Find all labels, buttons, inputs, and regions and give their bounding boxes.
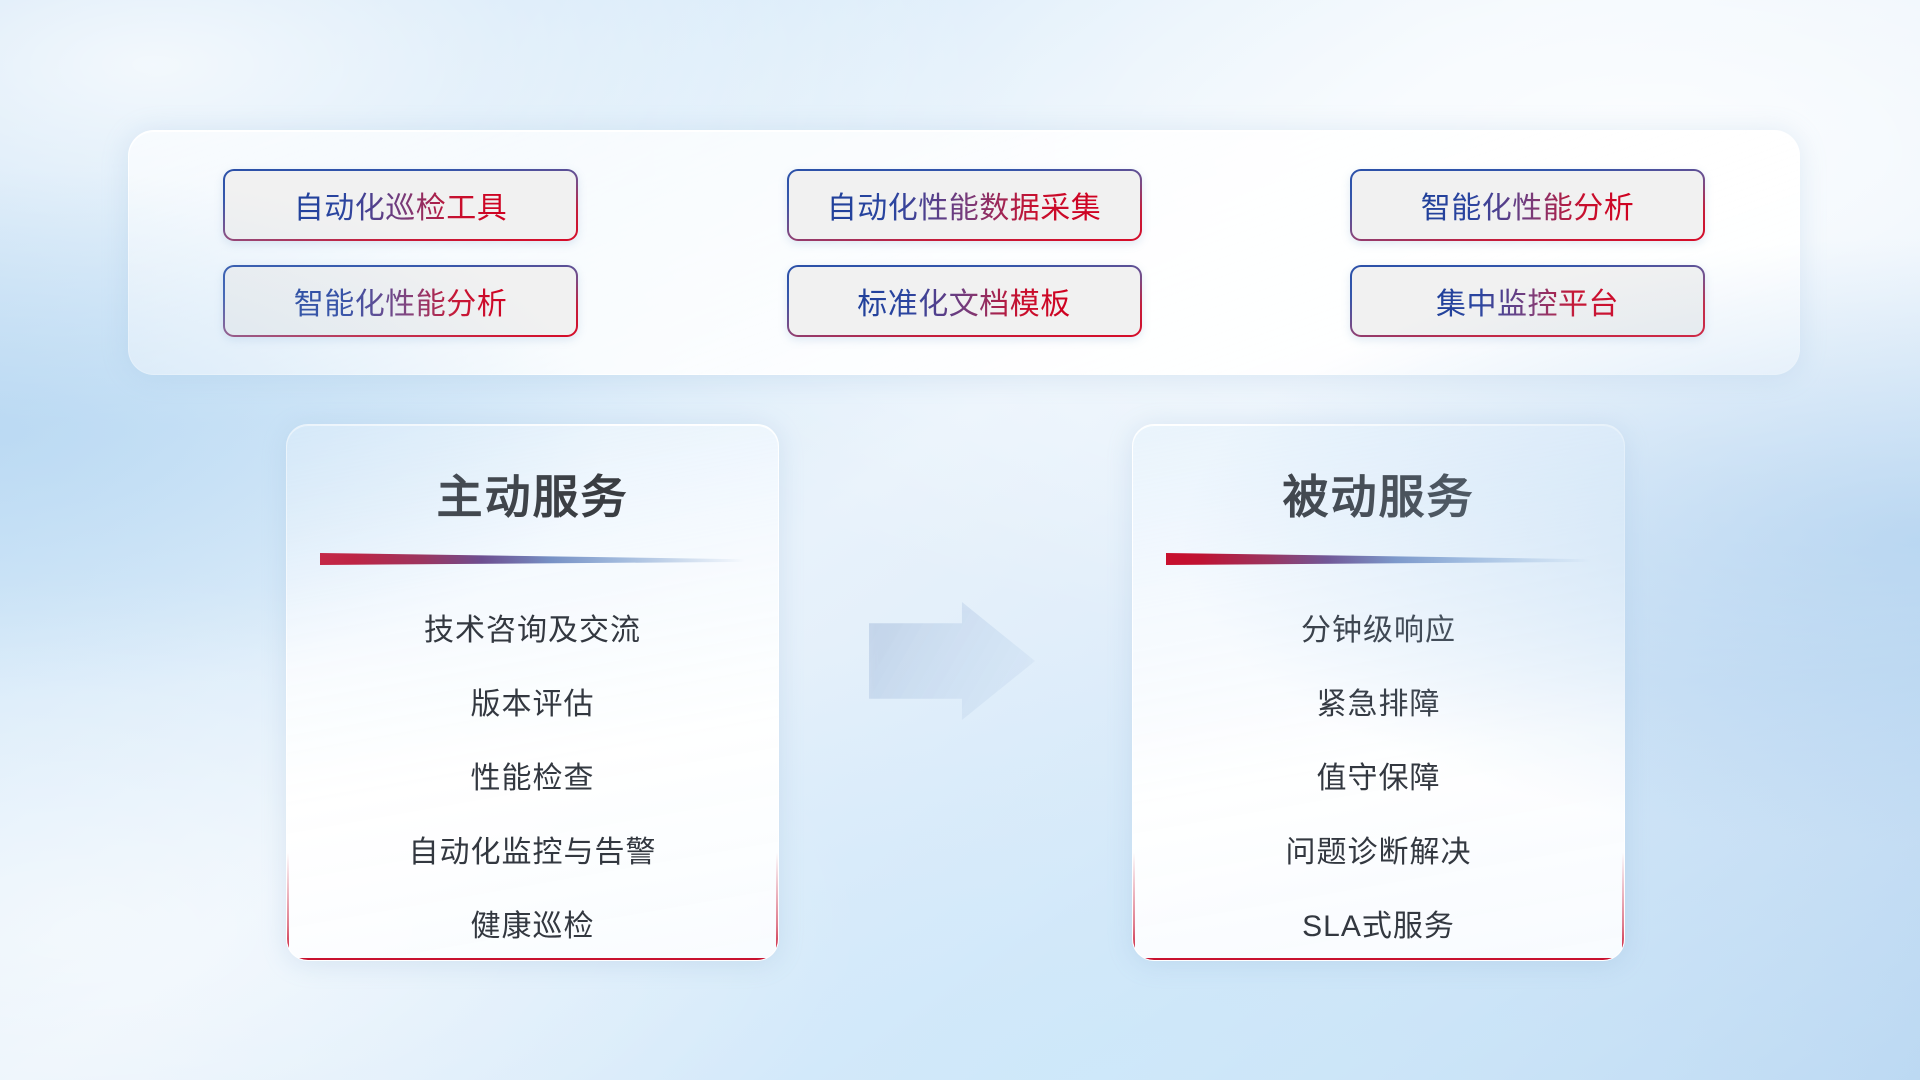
service-list-item: 健康巡检 <box>471 901 595 945</box>
capability-pill-label: 集中监控平台 <box>1436 279 1619 323</box>
capability-pill-intelligent-perf-analysis[interactable]: 智能化性能分析 <box>1350 169 1705 241</box>
capability-pill-auto-perf-data-collection[interactable]: 自动化性能数据采集 <box>787 169 1142 241</box>
service-card-proactive: 主动服务 技术咨询及交流 版本评估 性能检查 自动化监控与告警 健康巡检 <box>286 424 779 961</box>
capability-panel: 自动化巡检工具 自动化性能数据采集 智能化性能分析 智能化性能分析 <box>128 130 1800 375</box>
capability-pill-label: 标准化文档模板 <box>857 279 1071 323</box>
service-list-item: 技术咨询及交流 <box>424 605 641 649</box>
service-item-list: 技术咨询及交流 版本评估 性能检查 自动化监控与告警 健康巡检 <box>287 605 778 945</box>
service-list-item: 值守保障 <box>1317 753 1441 797</box>
pill-surface: 智能化性能分析 <box>1352 171 1703 239</box>
service-card-title: 被动服务 <box>1133 461 1624 527</box>
capability-pill-auto-inspection-tool[interactable]: 自动化巡检工具 <box>223 169 578 241</box>
capability-pill-standard-doc-template[interactable]: 标准化文档模板 <box>787 265 1142 337</box>
pill-surface: 智能化性能分析 <box>225 267 576 335</box>
service-item-list: 分钟级响应 紧急排障 值守保障 问题诊断解决 SLA式服务 <box>1133 605 1624 945</box>
capability-row-1: 自动化巡检工具 自动化性能数据采集 智能化性能分析 <box>223 169 1705 241</box>
service-list-item: SLA式服务 <box>1302 901 1455 945</box>
pill-surface: 自动化巡检工具 <box>225 171 576 239</box>
service-list-item: 性能检查 <box>471 753 595 797</box>
title-divider <box>320 553 745 565</box>
right-arrow-icon <box>869 602 1035 720</box>
pill-surface: 自动化性能数据采集 <box>789 171 1140 239</box>
service-card-title: 主动服务 <box>287 461 778 527</box>
service-list-item: 问题诊断解决 <box>1286 827 1472 871</box>
capability-pill-intelligent-perf-analysis-2[interactable]: 智能化性能分析 <box>223 265 578 337</box>
capability-pill-label: 自动化性能数据采集 <box>827 183 1102 227</box>
pill-surface: 集中监控平台 <box>1352 267 1703 335</box>
capability-row-2: 智能化性能分析 标准化文档模板 集中监控平台 <box>223 265 1705 337</box>
service-list-item: 紧急排障 <box>1317 679 1441 723</box>
service-list-item: 版本评估 <box>471 679 595 723</box>
title-divider <box>1166 553 1591 565</box>
capability-pill-centralized-monitoring[interactable]: 集中监控平台 <box>1350 265 1705 337</box>
slide-canvas: 自动化巡检工具 自动化性能数据采集 智能化性能分析 智能化性能分析 <box>0 0 1920 1080</box>
service-list-item: 自动化监控与告警 <box>409 827 657 871</box>
capability-pill-label: 自动化巡检工具 <box>294 183 508 227</box>
capability-pill-label: 智能化性能分析 <box>294 279 508 323</box>
capability-pill-label: 智能化性能分析 <box>1421 183 1635 227</box>
service-card-reactive: 被动服务 分钟级响应 紧急排障 值守保障 问题诊断解决 SLA式服务 <box>1132 424 1625 961</box>
service-list-item: 分钟级响应 <box>1301 605 1456 649</box>
pill-surface: 标准化文档模板 <box>789 267 1140 335</box>
